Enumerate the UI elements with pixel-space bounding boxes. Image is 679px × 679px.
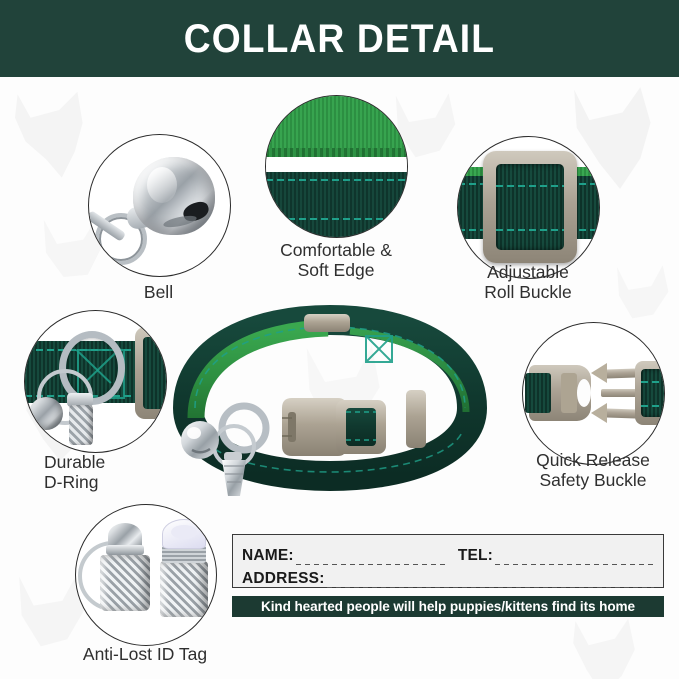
collar-illustration bbox=[170, 300, 490, 515]
caption-quick-release: Quick Release Safety Buckle bbox=[505, 450, 679, 491]
name-write-line[interactable] bbox=[296, 554, 446, 565]
id-card-form: NAME: TEL: ADDRESS: bbox=[232, 534, 664, 588]
page-title: COLLAR DETAIL bbox=[184, 19, 495, 59]
id-tag-photo bbox=[76, 505, 216, 645]
callout-circle-quick-release bbox=[522, 322, 665, 465]
caption-soft-edge: Comfortable & Soft Edge bbox=[250, 240, 422, 281]
header-banner: COLLAR DETAIL bbox=[0, 0, 679, 77]
caption-roll-buckle: Adjustable Roll Buckle bbox=[442, 262, 614, 303]
address-write-line[interactable] bbox=[327, 577, 654, 588]
callout-circle-roll-buckle bbox=[457, 136, 600, 279]
d-ring-photo bbox=[25, 311, 166, 452]
callout-circle-soft-edge bbox=[265, 95, 408, 238]
name-label: NAME: bbox=[242, 547, 294, 565]
id-card-row-name: NAME: TEL: bbox=[242, 542, 654, 565]
address-label: ADDRESS: bbox=[242, 570, 325, 588]
watermark-dog-head-icon bbox=[560, 610, 670, 679]
main-product-photo bbox=[170, 300, 490, 515]
bell-photo bbox=[89, 135, 230, 276]
infographic-canvas: COLLAR DETAIL Bell bbox=[0, 0, 679, 679]
callout-circle-bell bbox=[88, 134, 231, 277]
id-card-row-address: ADDRESS: bbox=[242, 565, 654, 588]
kind-hearted-banner: Kind hearted people will help puppies/ki… bbox=[232, 596, 664, 617]
callout-circle-id-tag bbox=[75, 504, 217, 646]
tel-write-line[interactable] bbox=[495, 554, 654, 565]
quick-release-buckle-photo bbox=[523, 323, 664, 464]
webbing-macro-photo bbox=[266, 96, 407, 237]
roll-buckle-photo bbox=[458, 137, 599, 278]
caption-id-tag: Anti-Lost ID Tag bbox=[48, 644, 242, 664]
tel-label: TEL: bbox=[458, 547, 493, 565]
callout-circle-d-ring bbox=[24, 310, 167, 453]
caption-d-ring: Durable D-Ring bbox=[6, 452, 184, 493]
